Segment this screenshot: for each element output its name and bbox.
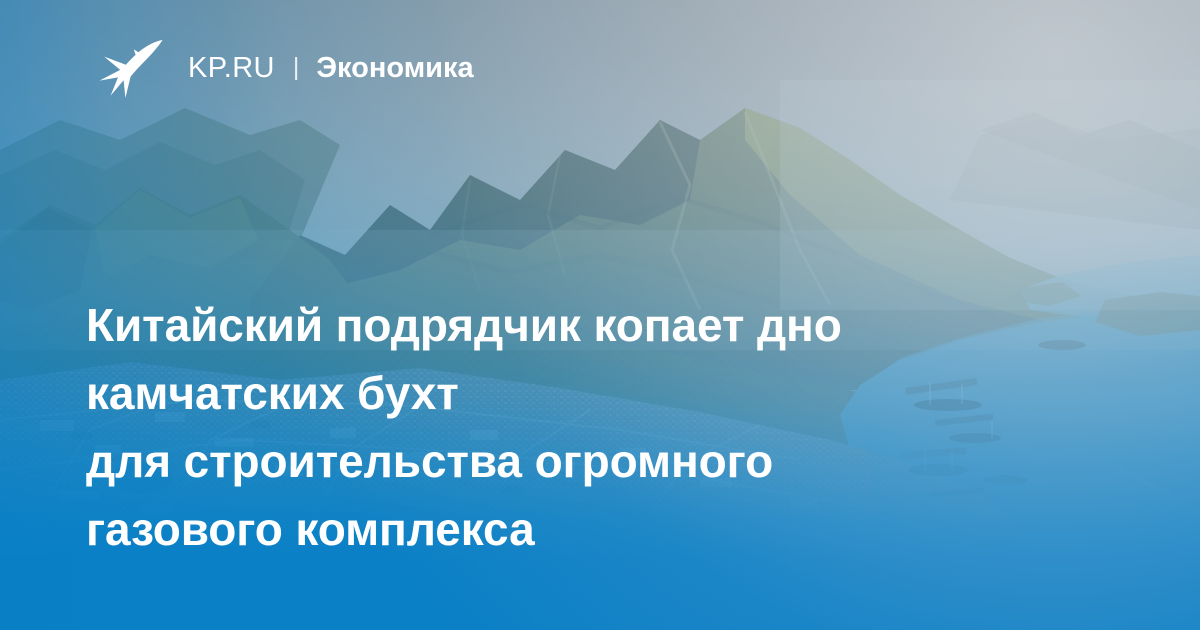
headline-line-4: газового комплекса: [86, 495, 1106, 563]
headline-line-1: Китайский подрядчик копает дно: [86, 291, 1106, 359]
headline: Китайский подрядчик копает дно камчатски…: [86, 291, 1106, 563]
headline-line-3: для строительства огромного: [86, 427, 1106, 495]
share-card: KP.RU | Экономика Китайский подрядчик ко…: [0, 0, 1200, 630]
brand-bar[interactable]: KP.RU | Экономика: [98, 36, 474, 100]
headline-line-2: камчатских бухт: [86, 359, 1106, 427]
kp-swallow-bird-icon[interactable]: [98, 36, 164, 100]
section-name[interactable]: Экономика: [316, 54, 473, 83]
site-name[interactable]: KP.RU: [188, 54, 275, 83]
brand-separator: |: [293, 55, 300, 80]
brand-text-group: KP.RU | Экономика: [188, 54, 474, 83]
